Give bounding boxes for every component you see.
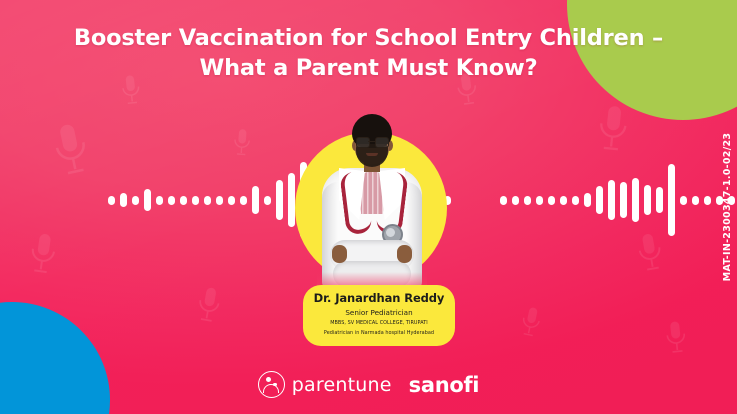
speaker-credential-2: Pediatrician in Narmada hospital Hyderab… — [311, 330, 447, 337]
waveform-bar — [704, 196, 711, 205]
waveform-bar — [120, 193, 127, 207]
mouth — [366, 153, 378, 156]
waveform-bar — [536, 196, 543, 205]
waveform-bar — [168, 196, 175, 205]
regulatory-code: MAT-IN-2300347-1.0-02/23 — [722, 133, 733, 282]
waveform-bar — [644, 185, 651, 215]
hand-right — [397, 245, 412, 263]
waveform-bar — [572, 196, 579, 205]
lens-right — [375, 137, 389, 148]
waveform-bar — [692, 196, 699, 205]
waveform-bar — [620, 182, 627, 218]
doctor-illustration — [281, 112, 461, 312]
waveform-bar — [252, 186, 259, 214]
waveform-bar — [608, 180, 615, 220]
speaker-portrait — [281, 112, 461, 312]
parent-head-icon — [266, 377, 271, 382]
waveform-bar — [132, 196, 139, 205]
waveform-bar — [156, 196, 163, 205]
waveform-bar — [264, 196, 271, 205]
title-line-2: What a Parent Must Know? — [0, 54, 737, 84]
waveform-bar — [204, 196, 211, 205]
waveform-bar — [524, 196, 531, 205]
speaker-name: Dr. Janardhan Reddy — [311, 292, 447, 305]
waveform-bar — [668, 164, 675, 236]
waveform-bar — [632, 178, 639, 222]
glasses-bridge — [368, 141, 375, 142]
poster-title: Booster Vaccination for School Entry Chi… — [0, 24, 737, 84]
waveform-bar — [512, 196, 519, 205]
waveform-bar — [548, 196, 555, 205]
footer-logos: parentune sanofi — [0, 371, 737, 398]
webinar-poster: Booster Vaccination for School Entry Chi… — [0, 0, 737, 414]
sanofi-wordmark: sanofi — [409, 373, 480, 397]
audio-waveform-right — [500, 160, 737, 240]
waveform-bar — [108, 196, 115, 205]
waveform-bar — [216, 196, 223, 205]
waveform-bar — [240, 196, 247, 205]
waveform-bar — [228, 196, 235, 205]
waveform-bar — [180, 196, 187, 205]
waveform-bar — [500, 196, 507, 205]
stethoscope-chestpiece-inner — [386, 228, 395, 237]
parent-child-body-icon — [263, 384, 279, 393]
waveform-bar — [656, 187, 663, 213]
waveform-bar — [584, 193, 591, 207]
waveform-bar — [192, 196, 199, 205]
parentune-wordmark: parentune — [292, 374, 392, 396]
waveform-bar — [596, 186, 603, 214]
waveform-bar — [680, 196, 687, 205]
speaker-credential-1: MBBS, SV MEDICAL COLLEGE, TIRUPATI — [311, 320, 447, 327]
waveform-bar — [560, 196, 567, 205]
lens-left — [356, 137, 370, 148]
parentune-icon — [258, 371, 285, 398]
hand-left — [332, 245, 347, 263]
waveform-bar — [144, 189, 151, 211]
title-line-1: Booster Vaccination for School Entry Chi… — [0, 24, 737, 54]
speaker-role: Senior Pediatrician — [311, 308, 447, 317]
glasses — [356, 137, 388, 146]
parentune-logo: parentune — [258, 371, 392, 398]
speaker-name-card: Dr. Janardhan Reddy Senior Pediatrician … — [303, 285, 455, 346]
